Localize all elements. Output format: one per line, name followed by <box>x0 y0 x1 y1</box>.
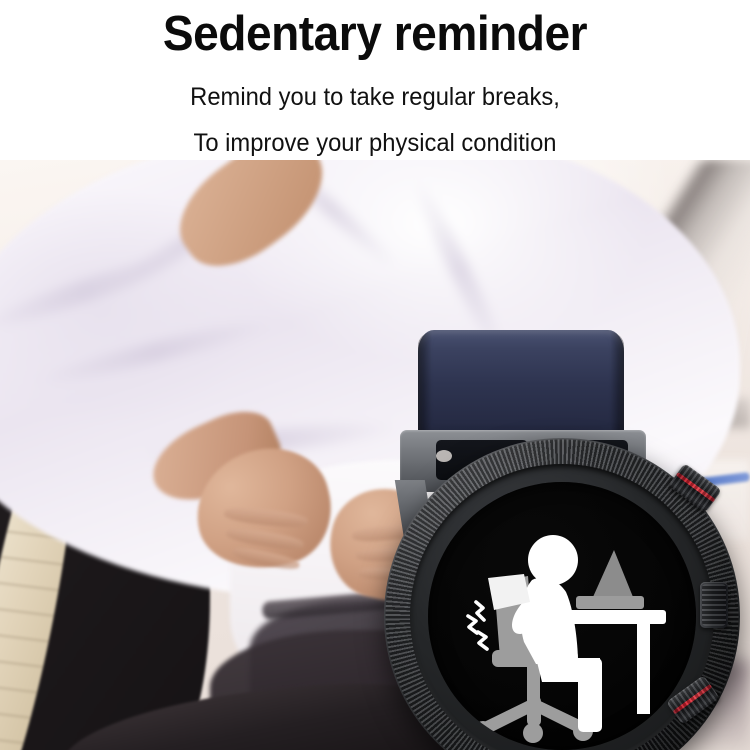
subtitle-line-2: To improve your physical condition <box>19 128 732 158</box>
page-title: Sedentary reminder <box>23 6 728 62</box>
watch-screen[interactable] <box>428 482 696 750</box>
watch-strap-edge <box>418 332 432 444</box>
shirt-fold <box>31 312 278 392</box>
header-text-band: Sedentary reminder Remind you to take re… <box>0 0 750 160</box>
watch-crown-middle-button[interactable] <box>700 582 728 628</box>
watch-strap-edge <box>610 332 624 444</box>
promotional-product-page: Sedentary reminder Remind you to take re… <box>0 0 750 750</box>
smartwatch-product-image <box>378 330 750 750</box>
pain-zigzag-marks <box>468 602 487 649</box>
subtitle-line-1: Remind you to take regular breaks, <box>19 82 732 112</box>
sedentary-reminder-icon <box>428 482 696 750</box>
watch-lug-hole <box>436 450 452 462</box>
